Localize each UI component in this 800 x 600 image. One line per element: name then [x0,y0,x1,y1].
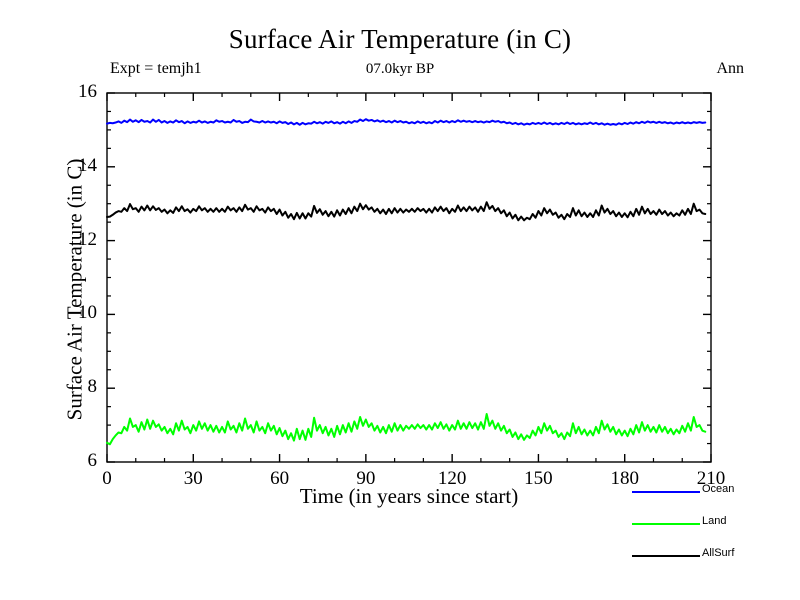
chart-legend: OceanLandAllSurf [612,481,797,571]
y-tick-label: 8 [37,376,97,398]
legend-item[interactable]: Ocean [612,481,797,503]
data-series-group [107,119,705,444]
axis-frame [107,93,711,462]
x-tick-label: 150 [508,468,568,490]
x-tick-label: 90 [336,468,396,490]
y-tick-label: 12 [37,229,97,251]
legend-label: Ocean [702,483,734,495]
legend-label: AllSurf [702,547,734,559]
legend-line-swatch [632,523,700,525]
x-tick-label: 120 [422,468,482,490]
y-tick-label: 6 [37,450,97,472]
series-line-land [107,414,705,444]
legend-item[interactable]: AllSurf [612,545,797,567]
tick-marks [107,93,711,462]
y-tick-label: 10 [37,302,97,324]
y-tick-label: 16 [37,81,97,103]
series-line-ocean [107,119,705,125]
series-line-allsurf [107,202,705,220]
legend-item[interactable]: Land [612,513,797,535]
x-tick-label: 30 [163,468,223,490]
legend-line-swatch [632,491,700,493]
legend-label: Land [702,515,726,527]
x-tick-label: 60 [250,468,310,490]
chart-figure: Surface Air Temperature (in C) 07.0kyr B… [0,0,800,600]
y-tick-label: 14 [37,155,97,177]
legend-line-swatch [632,555,700,557]
